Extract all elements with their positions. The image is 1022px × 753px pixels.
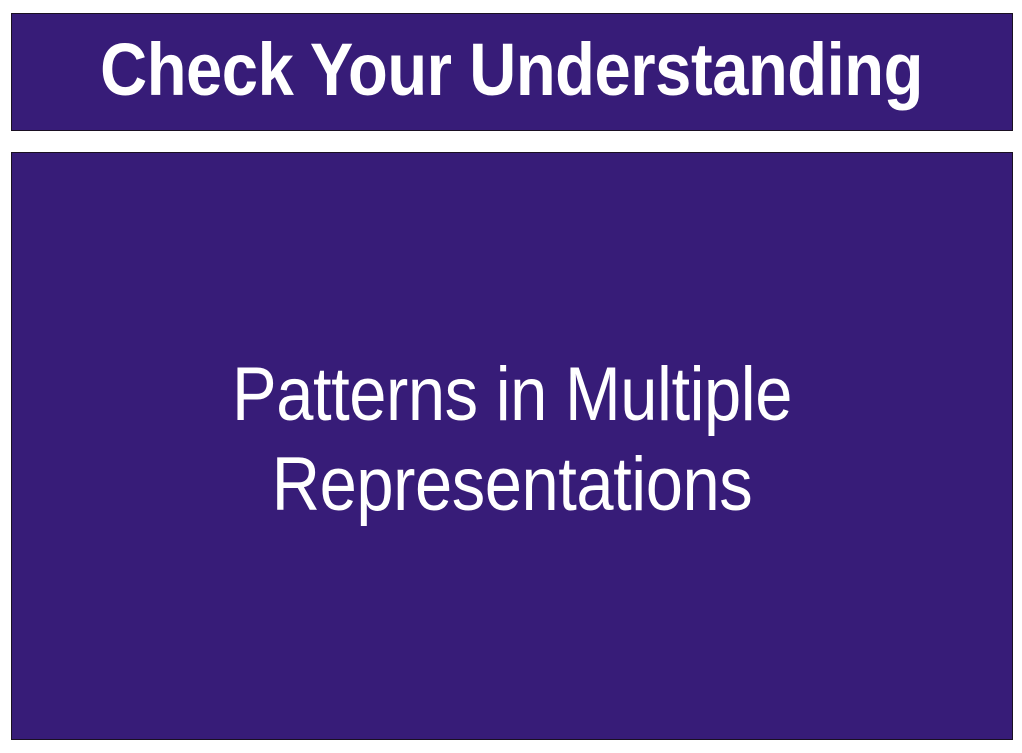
content-panel: Patterns in Multiple Representations <box>11 152 1013 740</box>
content-line-2: Representations <box>72 440 952 530</box>
title-banner: Check Your Understanding <box>11 13 1013 131</box>
slide-canvas: Check Your Understanding Patterns in Mul… <box>0 0 1022 753</box>
page-title: Check Your Understanding <box>101 33 924 111</box>
content-text-block: Patterns in Multiple Representations <box>12 350 1012 530</box>
content-line-1: Patterns in Multiple <box>72 350 952 440</box>
